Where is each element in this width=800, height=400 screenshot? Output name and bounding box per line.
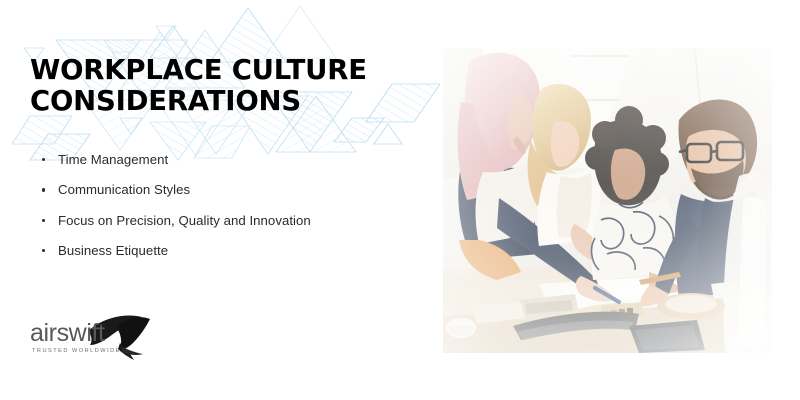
- list-item-label: Time Management: [58, 152, 168, 167]
- list-item-label: Focus on Precision, Quality and Innovati…: [58, 213, 311, 228]
- slide-canvas: Workplace Culture Considerations Time Ma…: [0, 0, 800, 400]
- logo-svg: airswift TRUSTED WORLDWIDE: [30, 303, 180, 361]
- airswift-logo: airswift TRUSTED WORLDWIDE: [30, 303, 180, 361]
- logo-tagline: TRUSTED WORLDWIDE: [32, 348, 121, 354]
- list-item: Time Management: [36, 152, 426, 168]
- list-item-label: Communication Styles: [58, 182, 190, 197]
- slide-title-text: Workplace Culture Considerations: [30, 55, 410, 117]
- team-photo: [443, 48, 772, 353]
- team-photo-illustration: [443, 48, 772, 353]
- list-item: Business Etiquette: [36, 243, 426, 259]
- list-item: Focus on Precision, Quality and Innovati…: [36, 213, 426, 229]
- logo-wordmark: airswift: [30, 319, 105, 347]
- page-title: Workplace Culture Considerations: [30, 55, 410, 117]
- list-item-label: Business Etiquette: [58, 243, 168, 258]
- considerations-list: Time Management Communication Styles Foc…: [36, 152, 426, 273]
- list-item: Communication Styles: [36, 182, 426, 198]
